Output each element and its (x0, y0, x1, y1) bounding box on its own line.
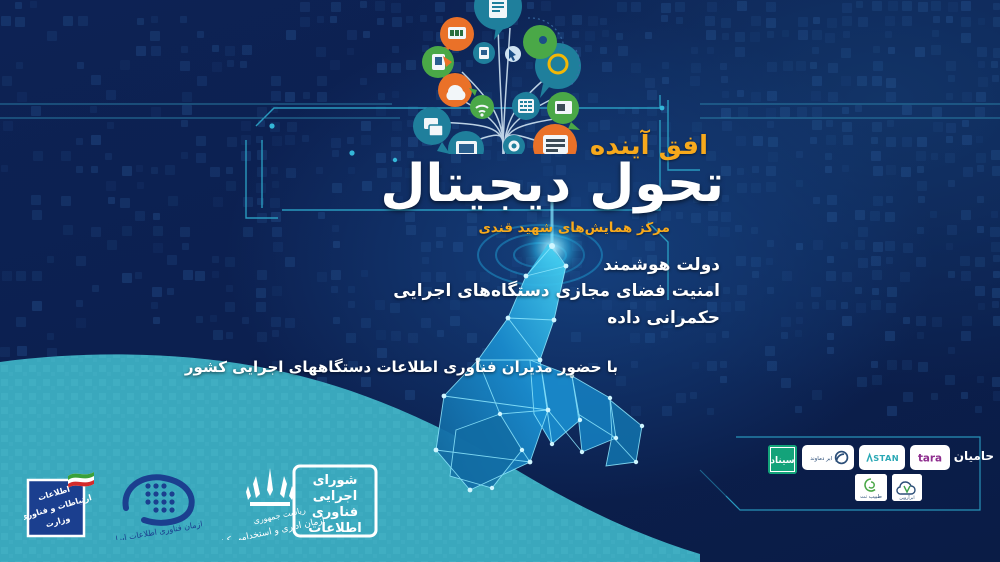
sponsors-section: حامیان tara STAN ابر دماوند (742, 441, 994, 509)
svg-text:ابر دماوند: ابر دماوند (810, 456, 832, 462)
topic-item: امنیت فضای مجازی دستگاه‌های اجرایی (393, 278, 720, 304)
organizer-logo-iran-ict-organization: سازمان فناوری اطلاعات ایران (116, 464, 202, 544)
sponsor-logo-astan[interactable]: STAN (859, 445, 905, 470)
svg-text:اجرایی: اجرایی (313, 489, 357, 504)
sponsor-logo-tabib-net[interactable]: طبیب نت (855, 474, 887, 501)
sponsor-logo-abr-damavand[interactable]: ابر دماوند (802, 445, 854, 470)
svg-text:شورای: شورای (313, 473, 358, 488)
organizer-logos: اطلاعات ارتباطات و فناوری وزارت سازمان ف… (24, 458, 384, 544)
svg-text:سیناد: سیناد (770, 456, 794, 466)
svg-text:فناوری: فناوری (312, 505, 358, 520)
svg-text:tara: tara (918, 453, 942, 465)
organizer-logo-ict-executive-council: شورای اجرایی فناوری اطلاعات (292, 462, 378, 544)
venue-label: مرکز همایش‌های شهید قندی (478, 220, 670, 236)
sponsor-logo-abr-arvin[interactable]: ابرآروین (892, 474, 922, 501)
sponsors-row-2: ابرآروین طبیب نت (855, 474, 922, 501)
topic-item: دولت هوشمند (393, 252, 720, 278)
topics-list: دولت هوشمند امنیت فضای مجازی دستگاه‌های … (393, 252, 720, 331)
organizer-logo-ministry-of-ict: اطلاعات ارتباطات و فناوری وزارت (24, 462, 98, 544)
topic-item: حکمرانی داده (393, 305, 720, 331)
sponsor-logo-sinad[interactable]: سیناد (768, 445, 797, 474)
digital-icon-tree (400, 0, 610, 154)
svg-text:ابرآروین: ابرآروین (899, 495, 914, 501)
svg-text:STAN: STAN (873, 453, 899, 463)
svg-text:طبیب نت: طبیب نت (860, 494, 882, 500)
sponsors-label: حامیان (954, 449, 994, 463)
attendance-tagline: با حضور مدیران فناوری اطلاعات دستگاههای … (185, 358, 618, 376)
poster-title: تحول دیجیتال (380, 158, 724, 211)
svg-text:اطلاعات: اطلاعات (308, 521, 361, 536)
conference-poster: افق آینده تحول دیجیتال مرکز همایش‌های شه… (0, 0, 1000, 562)
sponsor-logo-tara[interactable]: tara (910, 445, 950, 470)
low-poly-pointing-hand (430, 200, 700, 500)
sponsors-row-1: tara STAN ابر دماوند (768, 445, 950, 474)
